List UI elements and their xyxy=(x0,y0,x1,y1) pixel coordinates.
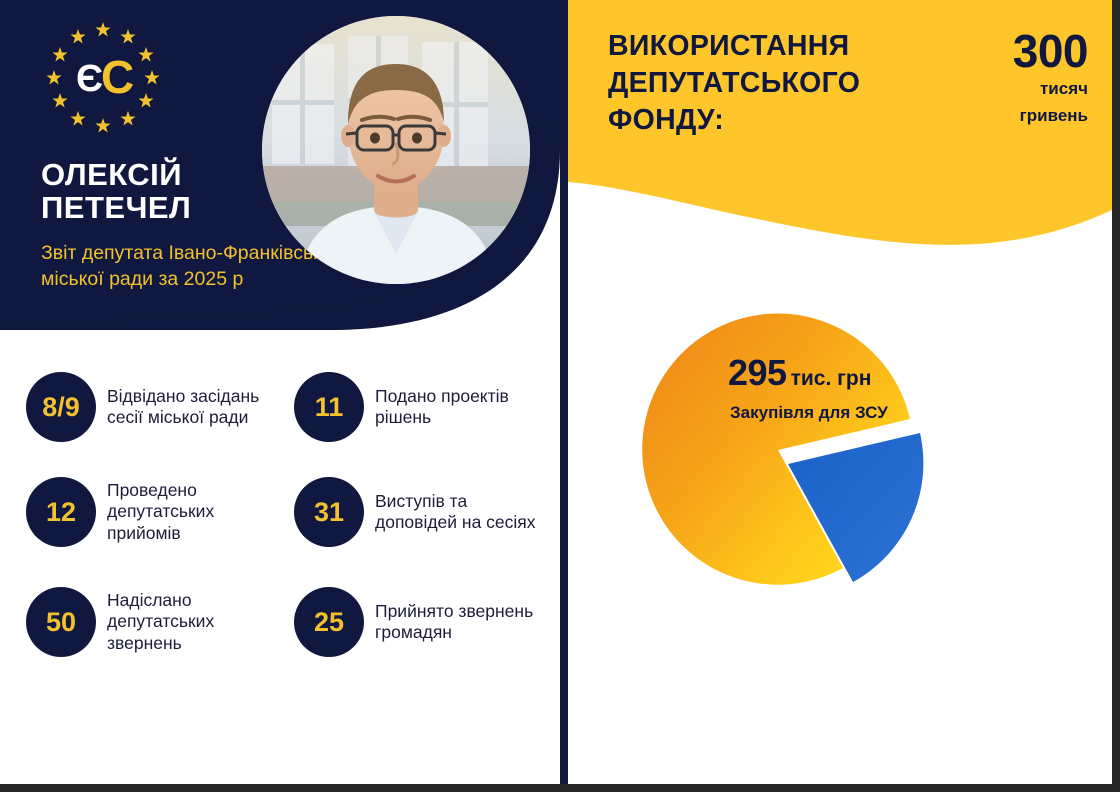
stat-item-5: 25 Прийнято звернень громадян xyxy=(294,587,554,657)
infographic-poster: Є С ОЛЕКСІЙ ПЕТЕЧЕЛ Звіт депутата Івано-… xyxy=(0,0,1120,792)
pie-name-zsu: Закупівля для ЗСУ xyxy=(730,403,888,423)
stat-badge-3: 31 xyxy=(294,477,364,547)
european-solidarity-logo: Є С xyxy=(38,18,168,138)
stat-badge-1: 11 xyxy=(294,372,364,442)
poster-canvas: Є С ОЛЕКСІЙ ПЕТЕЧЕЛ Звіт депутата Івано-… xyxy=(0,0,1112,784)
stat-item-4: 50 Надіслано депутатських звернень xyxy=(26,587,286,657)
pie-label-zsu: 295тис. грн Закупівля для ЗСУ xyxy=(728,352,888,423)
panel-divider xyxy=(560,0,568,784)
stat-label-2: Проведено депутатських прийомів xyxy=(107,480,286,544)
stat-label-0: Відвідано засідань сесії міської ради xyxy=(107,386,286,429)
left-panel: Є С ОЛЕКСІЙ ПЕТЕЧЕЛ Звіт депутата Івано-… xyxy=(0,0,560,784)
fund-total-unit-1: тисяч xyxy=(968,78,1088,101)
stat-label-3: Виступів та доповідей на сесіях xyxy=(375,491,554,534)
fund-usage-title: ВИКОРИСТАННЯ ДЕПУТАТСЬКОГО ФОНДУ: xyxy=(608,28,938,139)
fund-pie-chart xyxy=(578,250,998,650)
fund-total-unit-2: гривень xyxy=(968,105,1088,128)
stat-item-3: 31 Виступів та доповідей на сесіях xyxy=(294,477,554,547)
stat-badge-2: 12 xyxy=(26,477,96,547)
fund-total-number: 300 xyxy=(968,28,1088,74)
stat-badge-0: 8/9 xyxy=(26,372,96,442)
right-panel: ВИКОРИСТАННЯ ДЕПУТАТСЬКОГО ФОНДУ: 300 ти… xyxy=(568,0,1112,784)
fund-total-amount: 300 тисяч гривень xyxy=(968,28,1088,128)
pie-value-zsu: 295 xyxy=(728,352,787,393)
stat-badge-4: 50 xyxy=(26,587,96,657)
statistics-grid: 8/9 Відвідано засідань сесії міської рад… xyxy=(26,372,546,672)
logo-letter-ye: Є xyxy=(76,58,103,100)
stat-label-4: Надіслано депутатських звернень xyxy=(107,590,286,654)
pie-unit-zsu: тис. грн xyxy=(791,367,872,390)
stat-label-1: Подано проектів рішень xyxy=(375,386,554,429)
report-subtitle: Звіт депутата Івано-Франківської міської… xyxy=(41,240,341,293)
stat-label-5: Прийнято звернень громадян xyxy=(375,601,554,644)
stat-item-1: 11 Подано проектів рішень xyxy=(294,372,554,442)
deputy-portrait-photo xyxy=(262,16,530,284)
logo-letter-s: С xyxy=(101,51,134,103)
stat-item-0: 8/9 Відвідано засідань сесії міської рад… xyxy=(26,372,286,442)
stat-badge-5: 25 xyxy=(294,587,364,657)
stat-item-2: 12 Проведено депутатських прийомів xyxy=(26,477,286,547)
